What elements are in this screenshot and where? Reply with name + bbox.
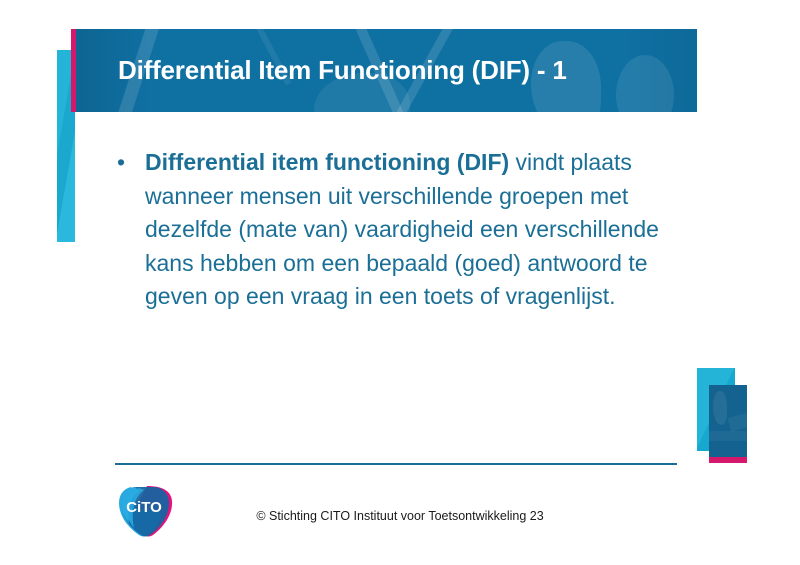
bullet-marker-icon: • [113, 146, 145, 179]
right-magenta-accent-bar [709, 457, 747, 463]
right-block-texture-2 [727, 412, 747, 432]
slide-canvas: Differential Item Functioning (DIF) - 1 … [0, 0, 800, 565]
slide-title: Differential Item Functioning (DIF) - 1 [118, 29, 697, 112]
footer-divider [115, 463, 677, 465]
bullet-item: • Differential item functioning (DIF) vi… [113, 146, 683, 314]
right-block-texture-1 [713, 391, 727, 425]
right-blue-accent-block [709, 385, 747, 457]
slide-header-bar: Differential Item Functioning (DIF) - 1 [76, 29, 697, 112]
right-block-texture-3 [709, 431, 747, 441]
bullet-paragraph: Differential item functioning (DIF) vind… [145, 146, 683, 314]
footer-copyright: © Stichting CITO Instituut voor Toetsont… [0, 509, 800, 523]
bullet-lead-term: Differential item functioning (DIF) [145, 149, 509, 175]
slide-body: • Differential item functioning (DIF) vi… [113, 146, 683, 314]
